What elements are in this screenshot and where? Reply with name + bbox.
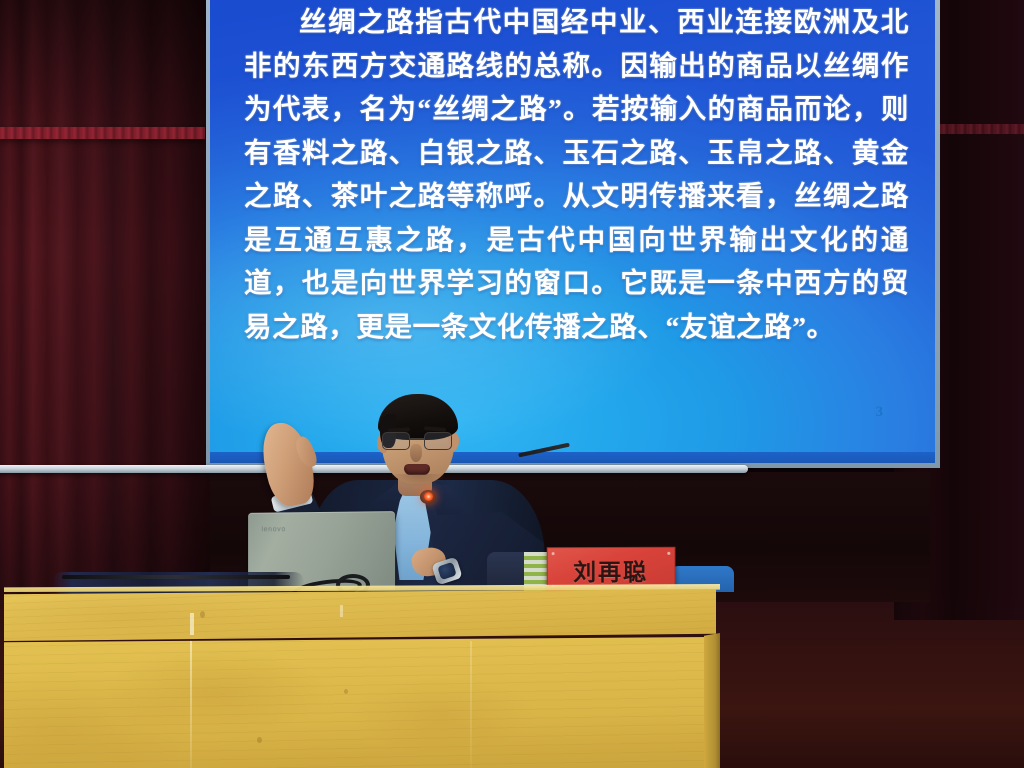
slide-paragraph-text: 丝绸之路指古代中国经中业、西业连接欧洲及北非的东西方交通路线的总称。因输出的商品… (244, 0, 909, 348)
podium-blemish-3 (257, 737, 262, 743)
wooden-podium (4, 589, 716, 768)
podium-mark-2 (340, 605, 343, 617)
eyeglass-bridge (410, 438, 424, 440)
podium-panel-woodgrain (4, 637, 712, 768)
podium-blemish-2 (344, 689, 348, 694)
slide-page-number: 3 (876, 404, 884, 421)
eyeglass-lens-left (382, 432, 410, 450)
speaker-chin (392, 474, 444, 486)
podium-right-edge (704, 633, 720, 768)
placard-screw-top-right (667, 552, 670, 555)
placard-name-text: 刘再聪 (573, 553, 648, 587)
laptop-brand-label: lenovo (261, 526, 286, 533)
podium-front-panel (4, 637, 712, 768)
podium-seam-left (190, 641, 192, 768)
speaker-nose (410, 444, 422, 462)
podium-seam-right (470, 641, 472, 768)
podium-lip-woodgrain (4, 589, 716, 641)
stage-curtain-left (0, 0, 235, 600)
placard-screw-top-left (552, 552, 555, 555)
eyeglass-lens-right (424, 432, 452, 450)
podium-front-lip (4, 589, 716, 641)
podium-blemish-1 (200, 611, 205, 618)
podium-mark-1 (190, 613, 194, 635)
photo-scene: 丝绸之路指古代中国经中业、西业连接欧洲及北非的东西方交通路线的总称。因输出的商品… (0, 0, 1024, 768)
curtain-valance-left (0, 127, 205, 139)
slide-paragraph: 丝绸之路指古代中国经中业、西业连接欧洲及北非的东西方交通路线的总称。因输出的商品… (244, 0, 909, 348)
microphone-indicator-light (424, 492, 433, 501)
